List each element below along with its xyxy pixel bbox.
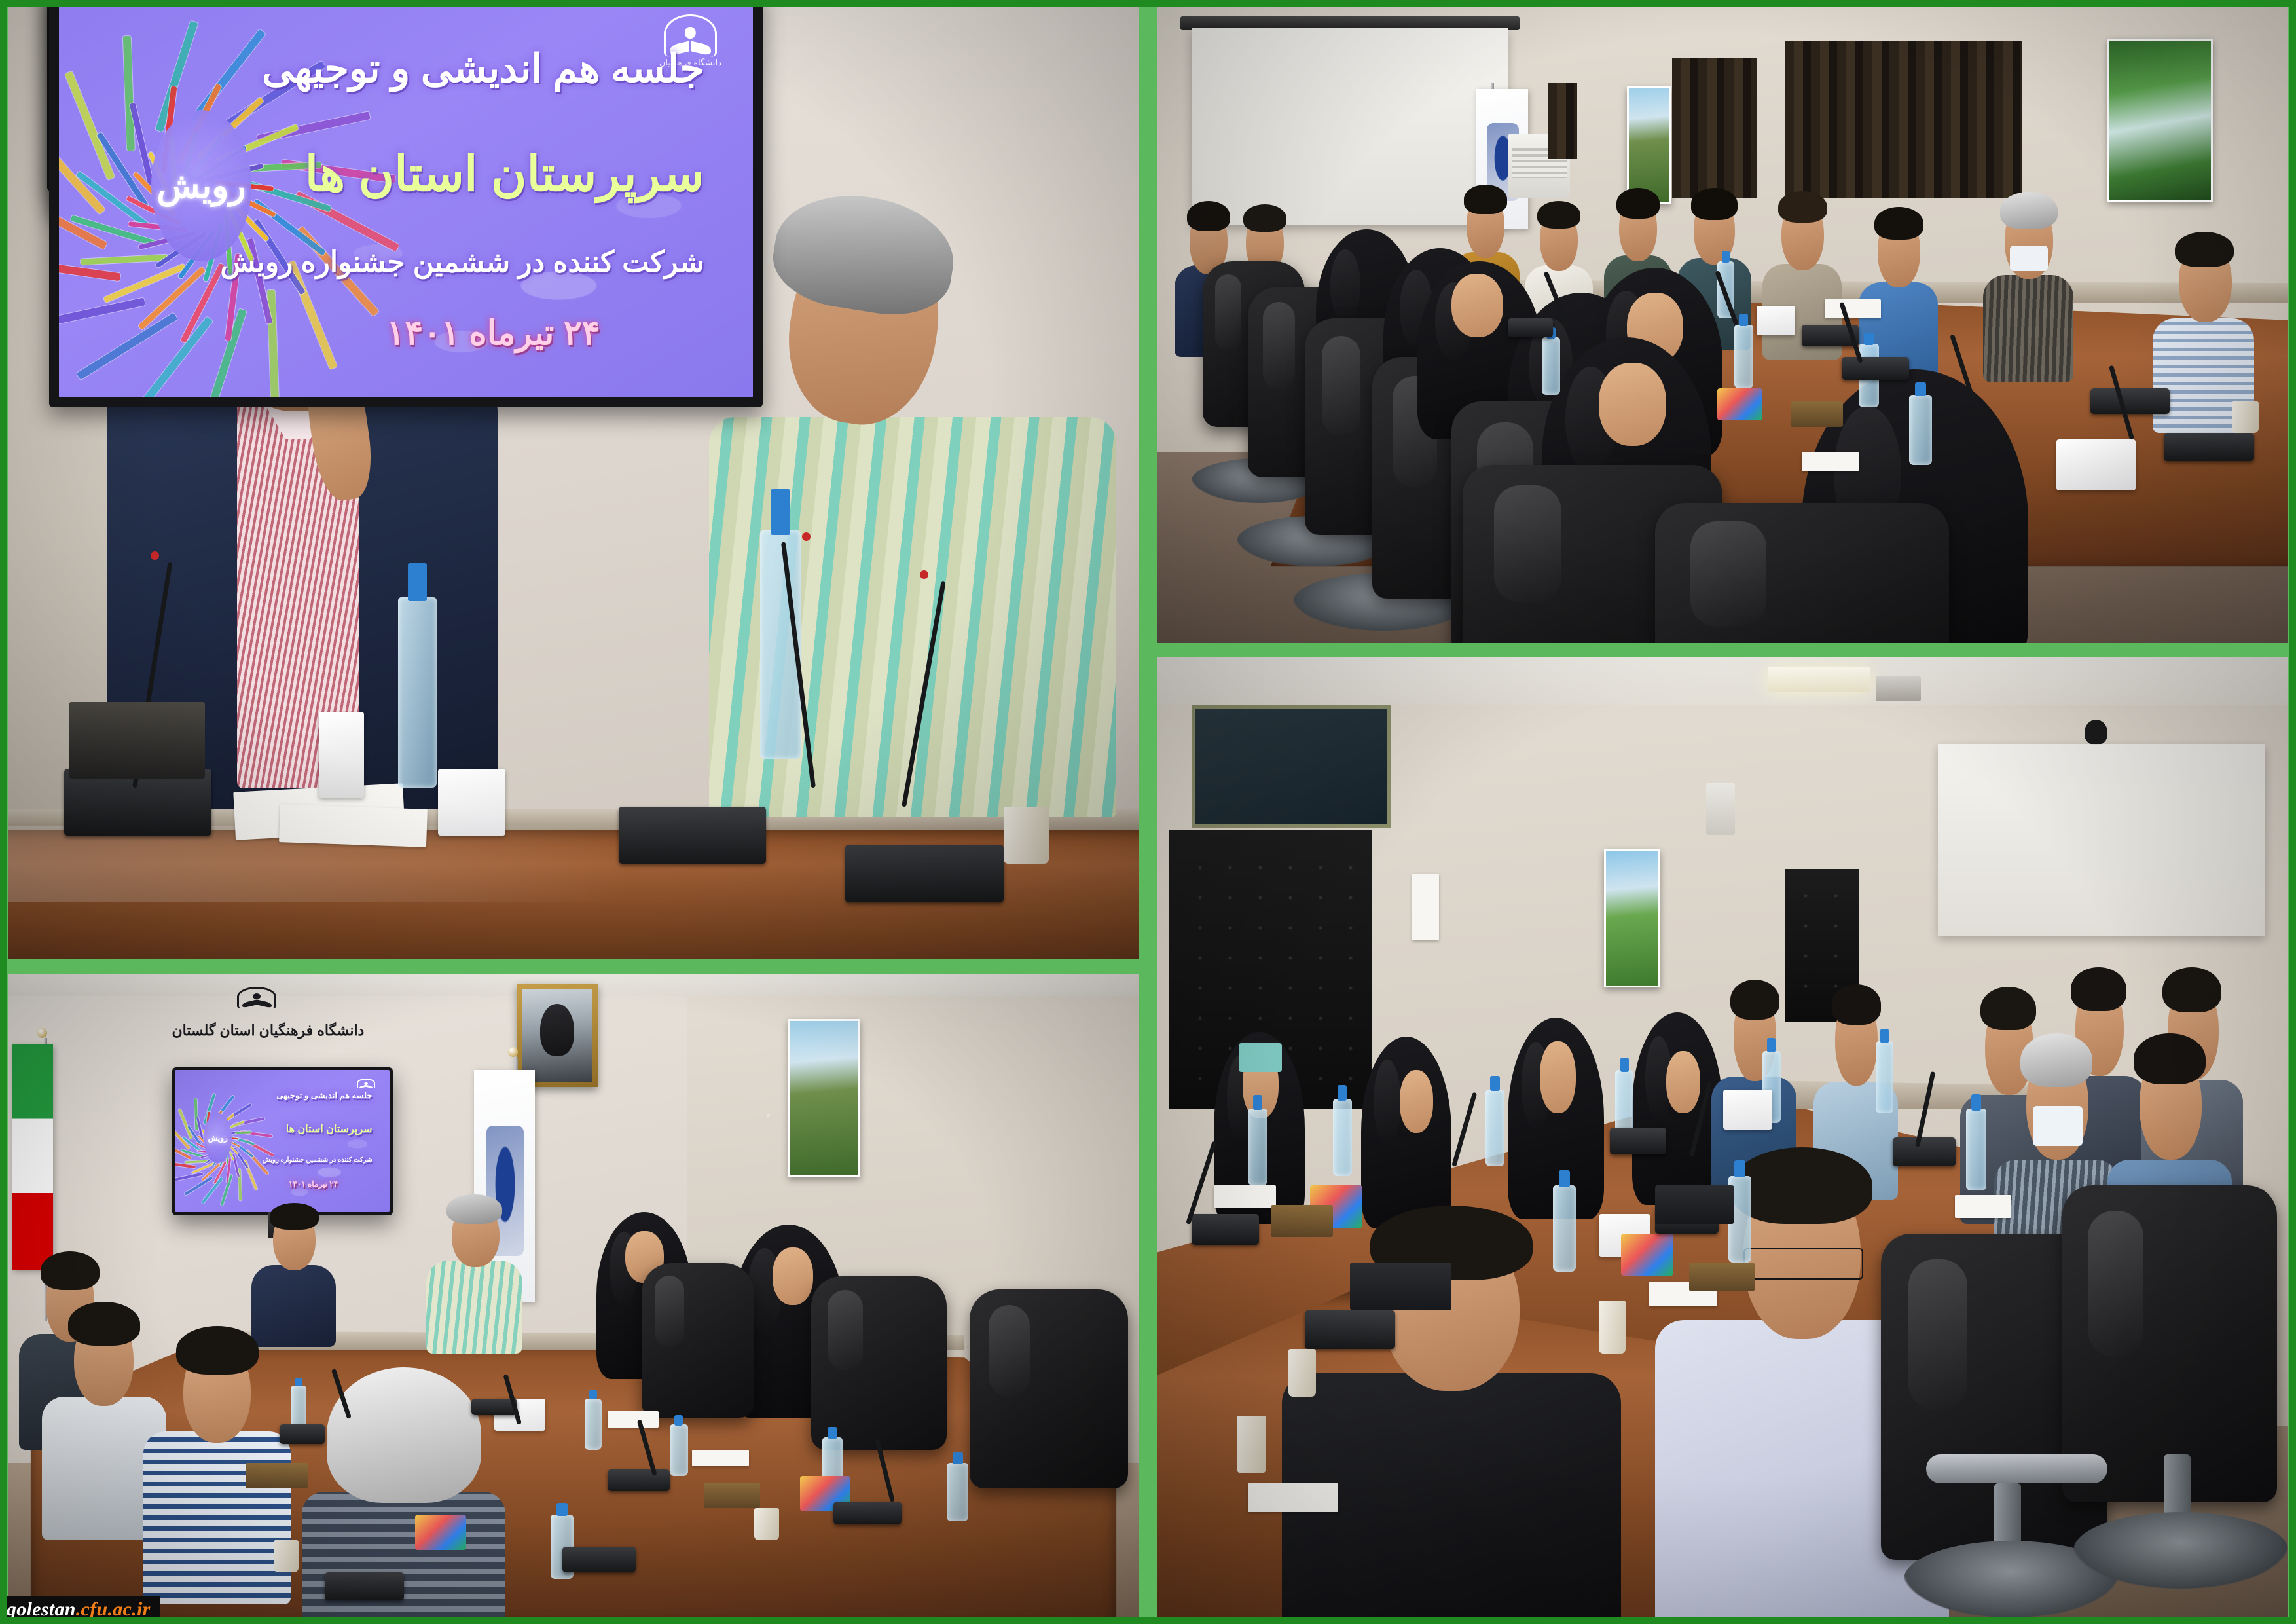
slide-line-2: سرپرستان استان ها — [305, 146, 704, 202]
wall-sign-text: دانشگاه فرهنگیان استان گلستان — [132, 1022, 404, 1039]
tissue-box — [1717, 388, 1762, 420]
wall-notice — [1412, 874, 1439, 941]
tissue-box — [2056, 439, 2136, 490]
water-bottle — [398, 597, 437, 788]
security-camera — [2085, 720, 2107, 745]
photo-collage: رویش دانشگاه فرهنگیان جلسه هم اندیشی و ت… — [0, 0, 2296, 1624]
curtain — [1548, 83, 1577, 160]
watermark-site: golestan — [7, 1598, 76, 1620]
face-mask — [2010, 246, 2048, 271]
face-mask — [2033, 1106, 2083, 1147]
tissue-box — [415, 1515, 466, 1550]
tissue-box — [1621, 1234, 1673, 1276]
conference-unit — [69, 702, 204, 778]
wall-board — [1938, 744, 2266, 936]
panel-conference-room-angle[interactable] — [1157, 657, 2288, 1617]
wall-university-logo — [234, 987, 280, 1008]
panel-conference-room-wide[interactable] — [1157, 7, 2288, 643]
slide-date: ۲۴ تیرماه ۱۴۰۱ — [386, 314, 600, 353]
wall-picture-waterfall — [2107, 39, 2213, 202]
slide-line-1: جلسه هم اندیشی و توجیهی — [262, 46, 704, 92]
rooyesh-logo-text-ring: رویش — [151, 110, 252, 261]
slide-line-3: شرکت کننده در ششمین جشنواره رویش — [263, 1156, 373, 1164]
ceiling-light — [1768, 667, 1870, 692]
headscarf-band — [1239, 1043, 1282, 1072]
slide-date: ۲۴ تیرماه ۱۴۰۱ — [289, 1179, 338, 1189]
iran-flag — [12, 1044, 53, 1270]
eyeglasses — [1743, 1248, 1864, 1280]
presentation-screen-frame[interactable]: رویش دانشگاه فرهنگیان جلسه هم اندیشی و ت… — [49, 0, 763, 407]
watermark-tld: .cfu.ac.ir — [76, 1598, 151, 1620]
wall-picture-field — [1604, 849, 1660, 987]
curtain — [1672, 58, 1757, 198]
slide-line-1: جلسه هم اندیشی و توجیهی — [276, 1090, 372, 1101]
slide-line-3: شرکت کننده در ششمین جشنواره رویش — [221, 246, 704, 279]
wall-picture-tower — [1627, 86, 1671, 205]
curtain — [1785, 41, 2022, 197]
slide-line-2: سرپرستان استان ها — [286, 1122, 373, 1135]
wall-picture-tower — [788, 1019, 860, 1177]
site-watermark: golestan.cfu.ac.ir — [0, 1596, 160, 1624]
window — [1192, 705, 1392, 828]
ceiling-projector — [1876, 676, 1921, 701]
rooyesh-logo-label-small: رویش — [208, 1134, 228, 1143]
wall-speaker — [1706, 783, 1736, 836]
attendee-chador — [1361, 1037, 1451, 1228]
rooyesh-logo-label: رویش — [156, 165, 246, 206]
foreground-black-suit — [1282, 1214, 1621, 1617]
presentation-tv[interactable]: رویش جلسه هم اندیشی و توجیهی سرپرستان اس… — [172, 1067, 393, 1215]
panel-meeting-room-overview[interactable]: دانشگاه فرهنگیان استان گلستان — [8, 974, 1139, 1617]
slide-screen-surface: رویش دانشگاه فرهنگیان جلسه هم اندیشی و ت… — [59, 0, 753, 397]
